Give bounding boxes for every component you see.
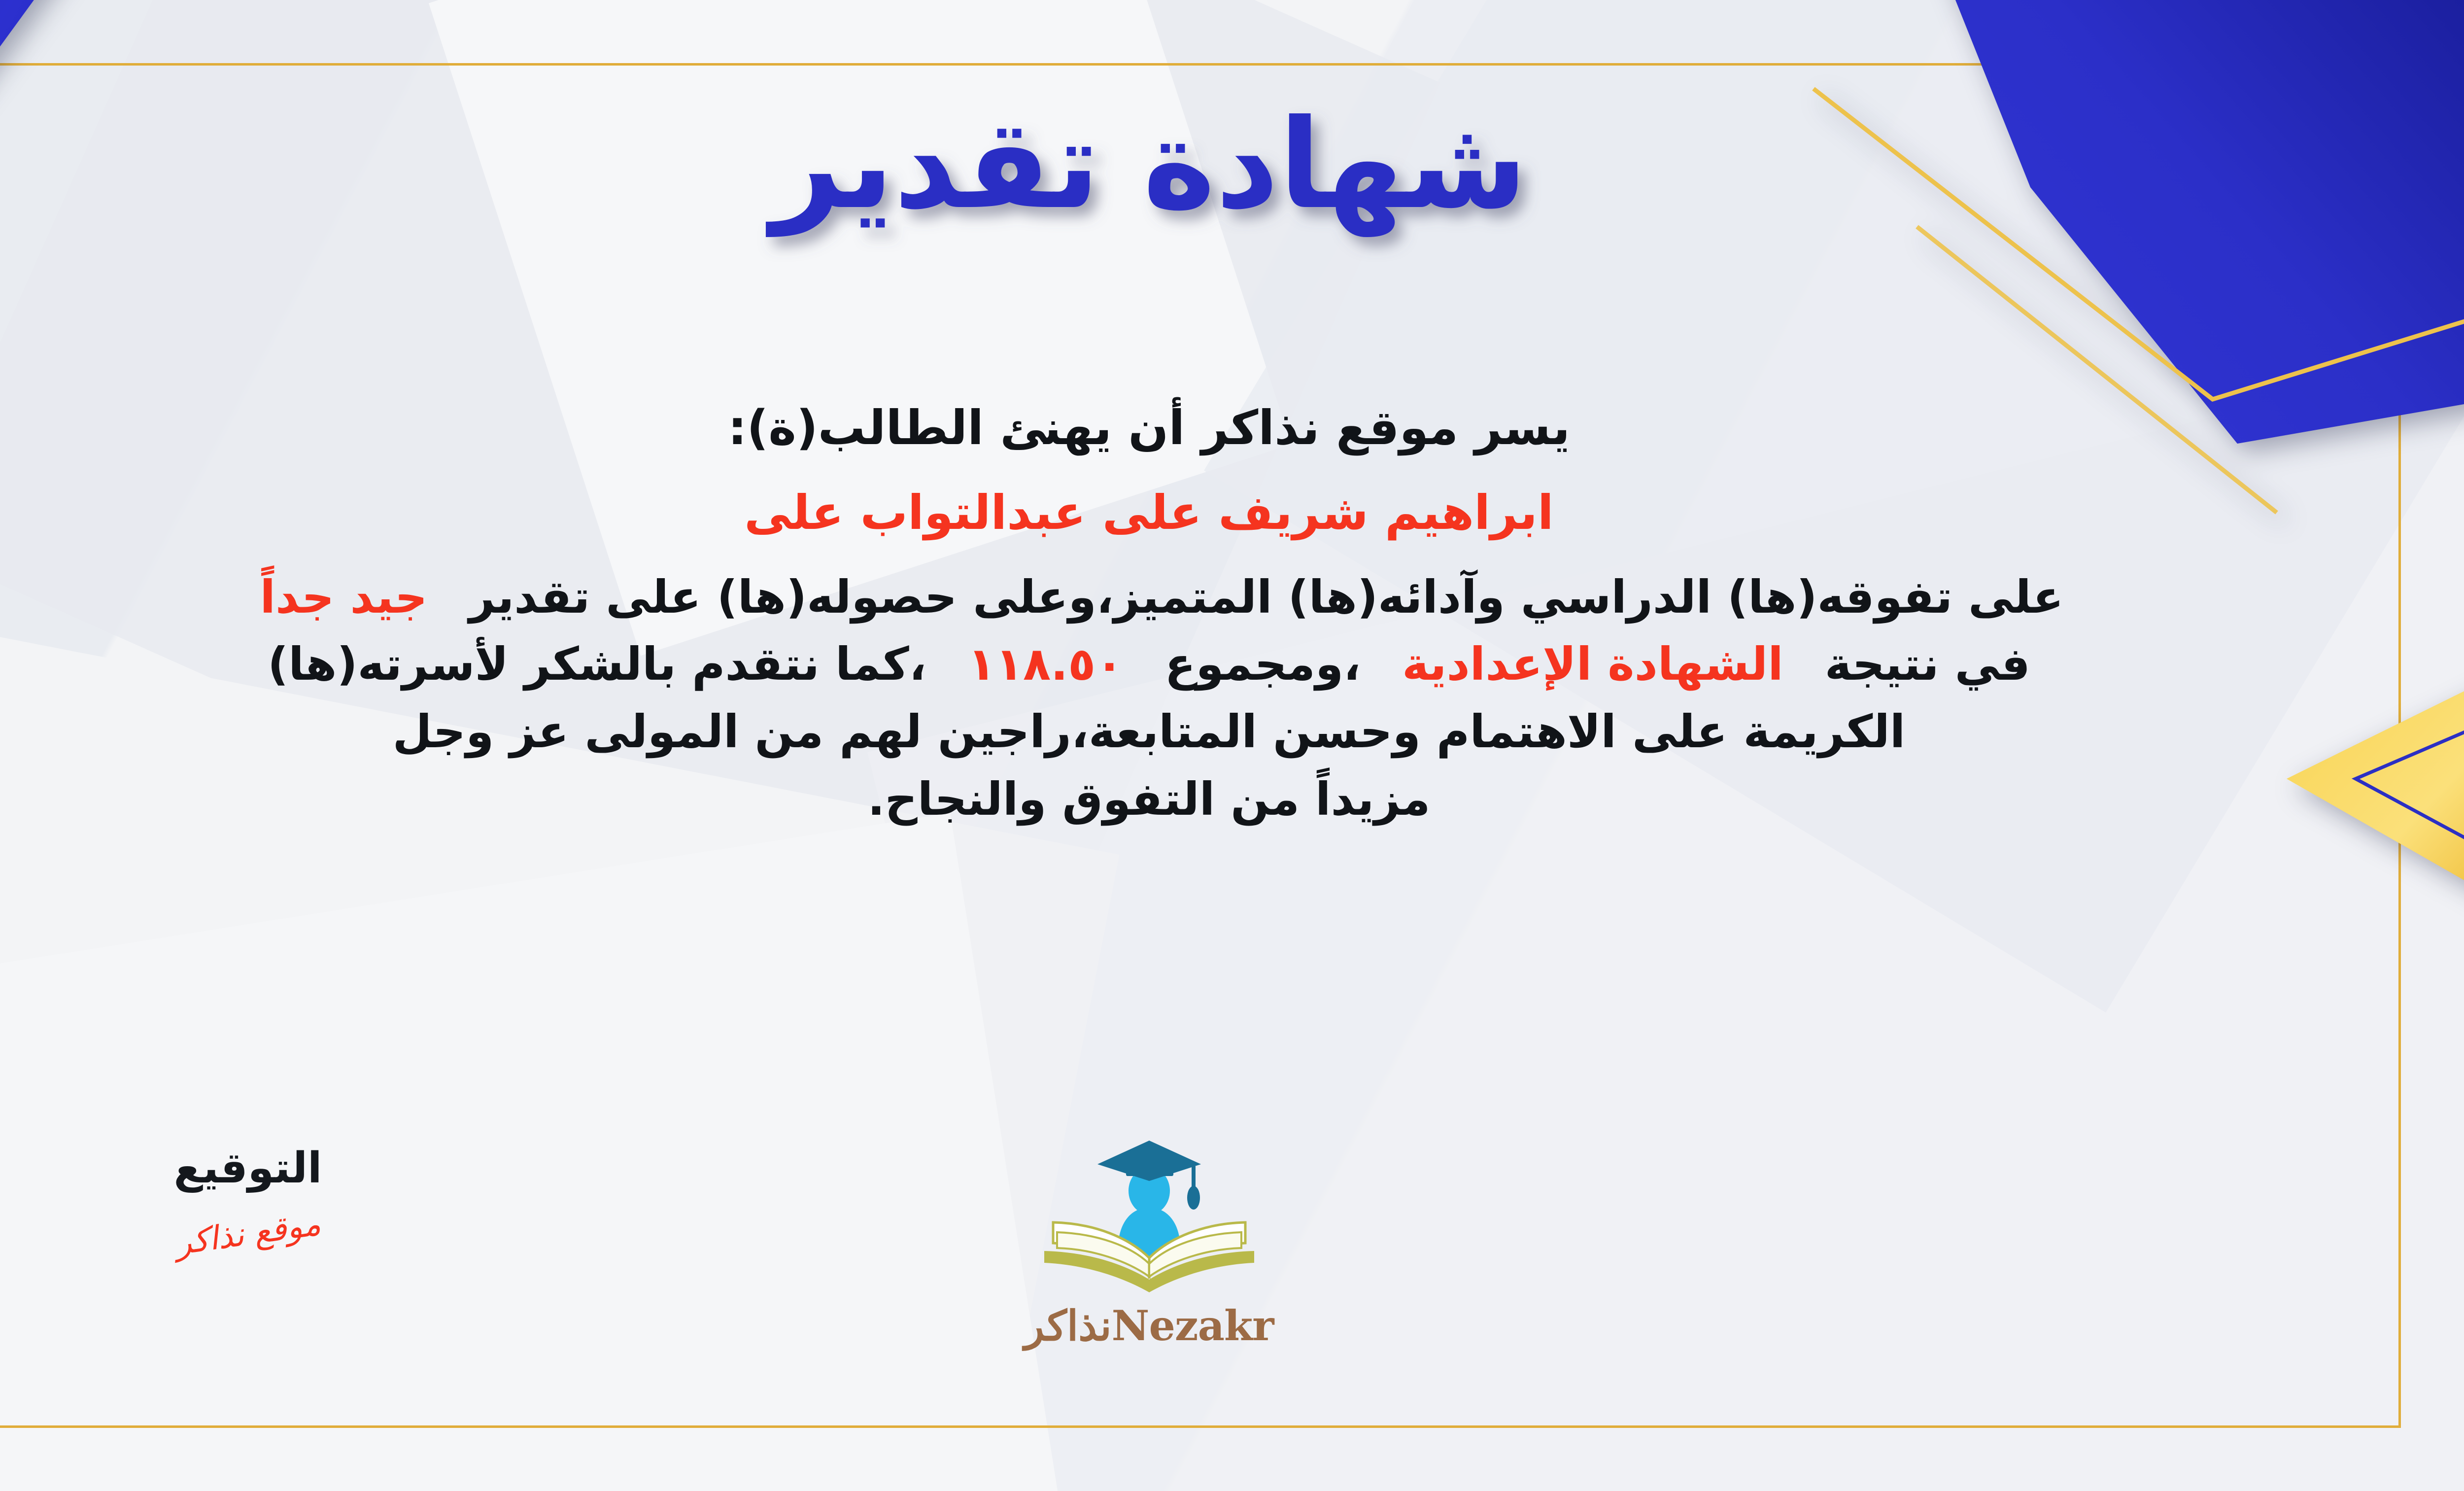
- citation-in-result-label: في نتيجة: [1825, 638, 2030, 691]
- citation-thanks-label: ،كما نتقدم بالشكر لأسرته(ها): [268, 638, 926, 691]
- brand-logo: Nezakrنذاكر: [962, 1134, 1336, 1350]
- citation-line-2: في نتيجة الشهادة الإعدادية ،ومجموع ١١٨.٥…: [0, 632, 2390, 697]
- grade-value: جيد جداً: [234, 571, 453, 624]
- certificate-title: شهادة تقدير: [0, 39, 2464, 278]
- total-score: ١١٨.٥٠: [942, 638, 1149, 691]
- certificate-footer: التوقيع موقع نذاكر: [0, 1144, 2390, 1420]
- brand-latin: Nezakr: [1112, 1301, 1274, 1350]
- certificate-page: شهادة تقدير يسر موقع نذاكر أن يهنئ الطال…: [0, 0, 2464, 1491]
- signature-label: التوقيع: [95, 1144, 401, 1193]
- brand-wordmark: Nezakrنذاكر: [962, 1301, 1336, 1350]
- greeting-line: يسر موقع نذاكر أن يهنئ الطالب(ة):: [0, 394, 2390, 461]
- citation-total-label: ،ومجموع: [1164, 638, 1361, 691]
- student-name: ابراهيم شريف على عبدالتواب على: [0, 479, 2390, 546]
- logo-cap-tassel: [1187, 1186, 1200, 1210]
- citation-paragraph: على تفوقه(ها) الدراسي وآدائه(ها) المتميز…: [0, 565, 2390, 832]
- certificate-body: يسر موقع نذاكر أن يهنئ الطالب(ة): ابراهي…: [0, 394, 2390, 834]
- signature-handwriting: موقع نذاكر: [173, 1205, 323, 1262]
- citation-line-1-text: على تفوقه(ها) الدراسي وآدائه(ها) المتميز…: [469, 571, 2064, 624]
- citation-line-3: الكريمة على الاهتمام وحسن المتابعة،راجين…: [0, 700, 2390, 764]
- title-text: شهادة تقدير: [765, 93, 1527, 238]
- title-calligraphy-svg: شهادة تقدير: [681, 39, 1617, 276]
- graduate-book-icon: [1033, 1134, 1265, 1296]
- logo-cap-top: [1097, 1141, 1201, 1181]
- citation-line-4: مزيداً من التفوق والنجاح.: [0, 767, 2390, 832]
- exam-name: الشهادة الإعدادية: [1376, 638, 1809, 691]
- brand-arabic: نذاكر: [1025, 1301, 1112, 1350]
- signature-block: التوقيع موقع نذاكر: [95, 1144, 401, 1252]
- citation-line-1: على تفوقه(ها) الدراسي وآدائه(ها) المتميز…: [0, 565, 2390, 630]
